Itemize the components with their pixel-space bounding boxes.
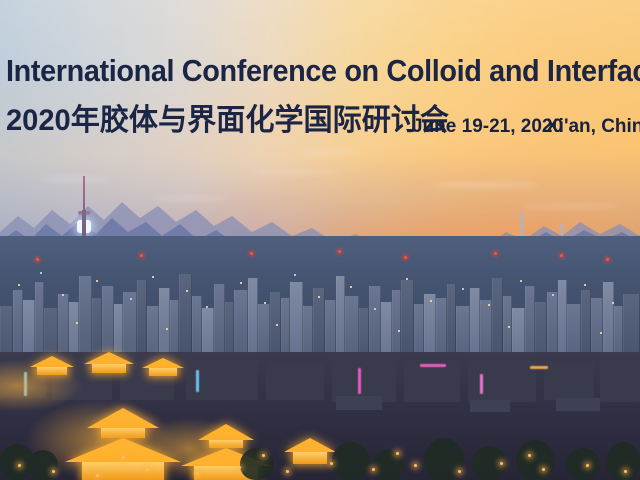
traditional-roof <box>470 400 510 412</box>
conference-title-chinese: 2020年胶体与界面化学国际研讨会 <box>6 103 449 139</box>
cloud <box>520 204 620 209</box>
window-light <box>374 308 376 310</box>
aviation-beacon <box>36 258 39 261</box>
conference-date: June 19-21, 2020 <box>412 114 563 140</box>
cloud <box>150 196 230 201</box>
street-lamp <box>18 464 21 467</box>
aviation-beacon <box>404 256 407 259</box>
traditional-roof <box>336 396 382 410</box>
pagoda-roof <box>30 356 74 367</box>
window-light <box>96 280 98 282</box>
aviation-beacon <box>250 252 253 255</box>
golden-temple-small <box>30 356 74 386</box>
pagoda-body-upper <box>209 440 243 448</box>
pagoda-roof <box>284 438 336 452</box>
pagoda-body-lower <box>82 462 164 480</box>
skyscraper-spire <box>521 212 523 238</box>
tower-mast <box>83 176 85 214</box>
traditional-roof <box>556 398 600 411</box>
pagoda-roof <box>142 358 184 368</box>
window-light <box>520 280 522 282</box>
window-light <box>294 274 296 276</box>
window-light <box>166 328 168 330</box>
tree <box>28 450 58 480</box>
street-lamp <box>96 474 99 477</box>
street-lamp <box>396 452 399 455</box>
street-lamp <box>286 470 289 473</box>
street-lamp <box>196 472 199 475</box>
window-light <box>406 278 408 280</box>
window-light <box>240 282 242 284</box>
pagoda-body <box>37 367 67 375</box>
neon-sign <box>420 364 446 367</box>
window-light <box>508 326 510 328</box>
window-light <box>612 302 614 304</box>
conference-title: International Conference on Colloid and … <box>6 53 640 89</box>
pagoda-body <box>293 452 327 464</box>
window-light <box>600 332 602 334</box>
tree <box>372 450 404 480</box>
main-golden-pagoda <box>58 408 188 480</box>
pagoda-roof <box>84 352 134 364</box>
pagoda-body-upper <box>101 428 145 438</box>
neon-sign <box>480 374 483 394</box>
town-block <box>332 352 396 402</box>
window-light <box>318 296 320 298</box>
street-lamp <box>146 468 149 471</box>
window-light <box>130 298 132 300</box>
aviation-beacon <box>338 250 341 253</box>
street-lamp <box>122 456 125 459</box>
golden-pavilion <box>282 438 338 480</box>
window-light <box>40 272 42 274</box>
window-light <box>398 330 400 332</box>
window-light <box>350 286 352 288</box>
window-light <box>552 294 554 296</box>
street-lamp <box>500 462 503 465</box>
street-lamp <box>528 454 531 457</box>
window-light <box>276 324 278 326</box>
aviation-beacon <box>560 254 563 257</box>
tree <box>566 448 600 480</box>
street-lamp <box>458 470 461 473</box>
tree <box>240 448 274 480</box>
conference-banner: International Conference on Colloid and … <box>0 0 640 480</box>
golden-temple-small <box>84 352 134 386</box>
pagoda-roof-upper <box>198 424 254 440</box>
tree <box>424 438 464 480</box>
aviation-beacon <box>140 254 143 257</box>
pagoda-body <box>92 364 126 373</box>
window-light <box>206 306 208 308</box>
window-light <box>462 288 464 290</box>
town-block <box>266 364 324 400</box>
street-lamp <box>542 468 545 471</box>
golden-temple-small <box>142 358 184 386</box>
cloud <box>300 150 360 154</box>
street-lamp <box>238 466 241 469</box>
window-light <box>18 284 20 286</box>
pagoda-body <box>149 368 177 376</box>
aviation-beacon <box>606 258 609 261</box>
conference-location: Xi'an, China <box>546 114 640 140</box>
window-light <box>186 290 188 292</box>
window-light <box>488 304 490 306</box>
neon-sign <box>530 366 548 369</box>
cloud <box>430 182 540 188</box>
tree <box>516 440 554 480</box>
town-block <box>468 356 536 402</box>
street-lamp <box>372 468 375 471</box>
street-lamp <box>52 470 55 473</box>
street-lamp <box>414 464 417 467</box>
town-block <box>544 362 594 400</box>
aviation-beacon <box>494 252 497 255</box>
window-light <box>584 284 586 286</box>
neon-sign <box>358 368 361 394</box>
tree <box>606 442 640 480</box>
window-light <box>430 300 432 302</box>
town-block <box>600 354 640 402</box>
neon-sign <box>24 372 27 396</box>
street-lamp <box>262 454 265 457</box>
neon-sign <box>196 370 199 392</box>
street-lamp <box>586 464 589 467</box>
window-light <box>62 294 64 296</box>
tree <box>332 442 370 480</box>
pagoda-roof-upper <box>87 408 159 428</box>
cloud <box>250 170 340 175</box>
street-lamp <box>624 470 627 473</box>
cloud <box>40 176 110 182</box>
old-town-foreground <box>0 352 640 480</box>
window-light <box>152 276 154 278</box>
street-lamp <box>330 462 333 465</box>
window-light <box>76 322 78 324</box>
window-light <box>264 302 266 304</box>
